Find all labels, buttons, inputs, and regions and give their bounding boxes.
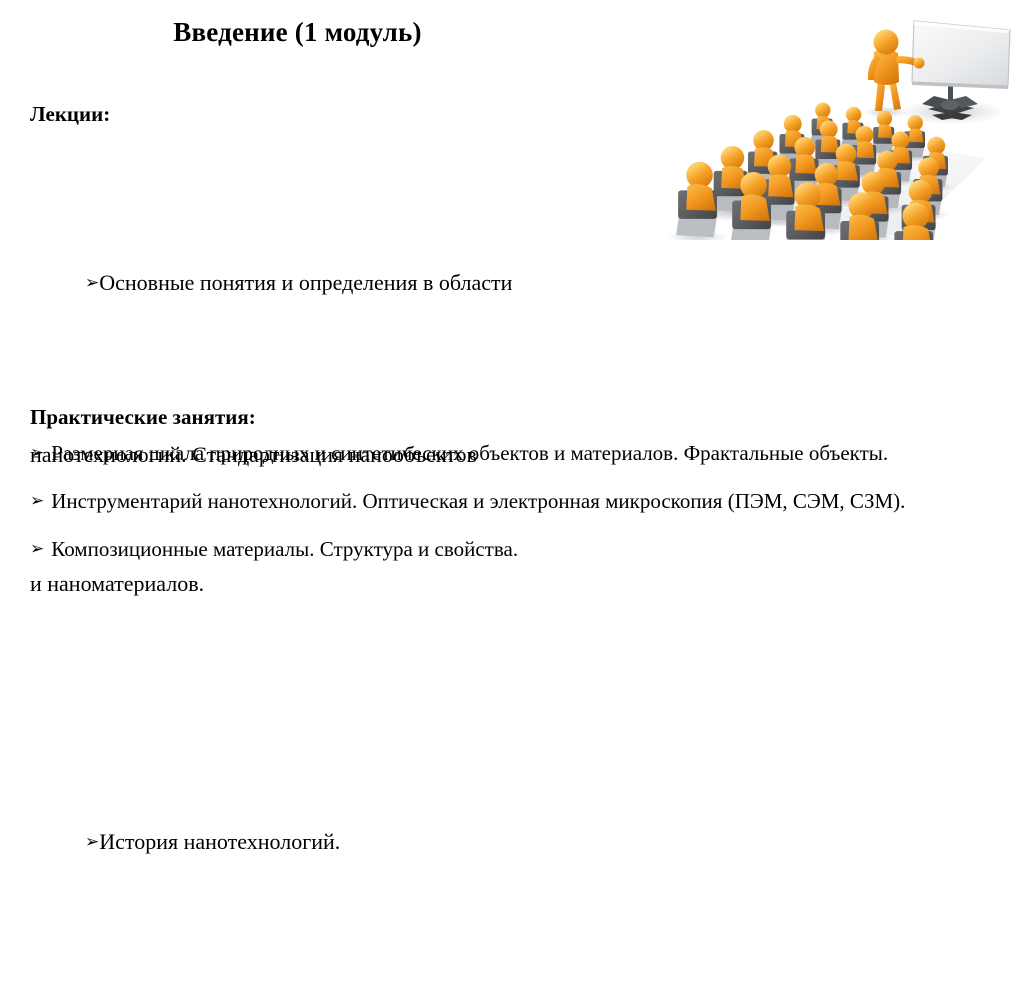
- practice-section: Практические занятия: ➢Размерная шкала п…: [30, 403, 930, 565]
- practice-list-item: ➢Композиционные материалы. Структура и с…: [30, 534, 930, 565]
- practice-item-text: Размерная шкала природных и синтетически…: [51, 441, 888, 465]
- lectures-item-text: и наноматериалов.: [30, 562, 910, 605]
- classroom-lecture-illustration: [656, 8, 1024, 240]
- practice-item-text: Инструментарий нанотехнологий. Оптическа…: [51, 489, 905, 513]
- lectures-item-line: ➢История нанотехнологий.: [30, 777, 910, 906]
- bullet-arrow-icon: ➢: [30, 539, 44, 559]
- lectures-list-item: ➢История нанотехнологий.: [30, 691, 910, 992]
- practice-list-item: ➢Размерная шкала природных и синтетическ…: [30, 438, 930, 469]
- page-title: Введение (1 модуль): [0, 16, 595, 48]
- practice-heading: Практические занятия:: [30, 403, 930, 431]
- practice-list-item: ➢Инструментарий нанотехнологий. Оптическ…: [30, 486, 930, 517]
- whiteboard: [900, 21, 1010, 124]
- bullet-arrow-icon: ➢: [30, 443, 44, 463]
- lectures-item-text: Основные понятия и определения в области: [99, 270, 512, 295]
- slide-canvas: Введение (1 модуль) Лекции: ➢Основные по…: [0, 0, 1024, 767]
- bullet-arrow-icon: ➢: [85, 273, 99, 293]
- bullet-arrow-icon: ➢: [85, 832, 99, 852]
- classroom-illustration-svg: [656, 8, 1024, 240]
- lectures-item-text: История нанотехнологий.: [99, 829, 340, 854]
- bullet-arrow-icon: ➢: [30, 491, 44, 511]
- practice-item-text: Композиционные материалы. Структура и св…: [51, 537, 518, 561]
